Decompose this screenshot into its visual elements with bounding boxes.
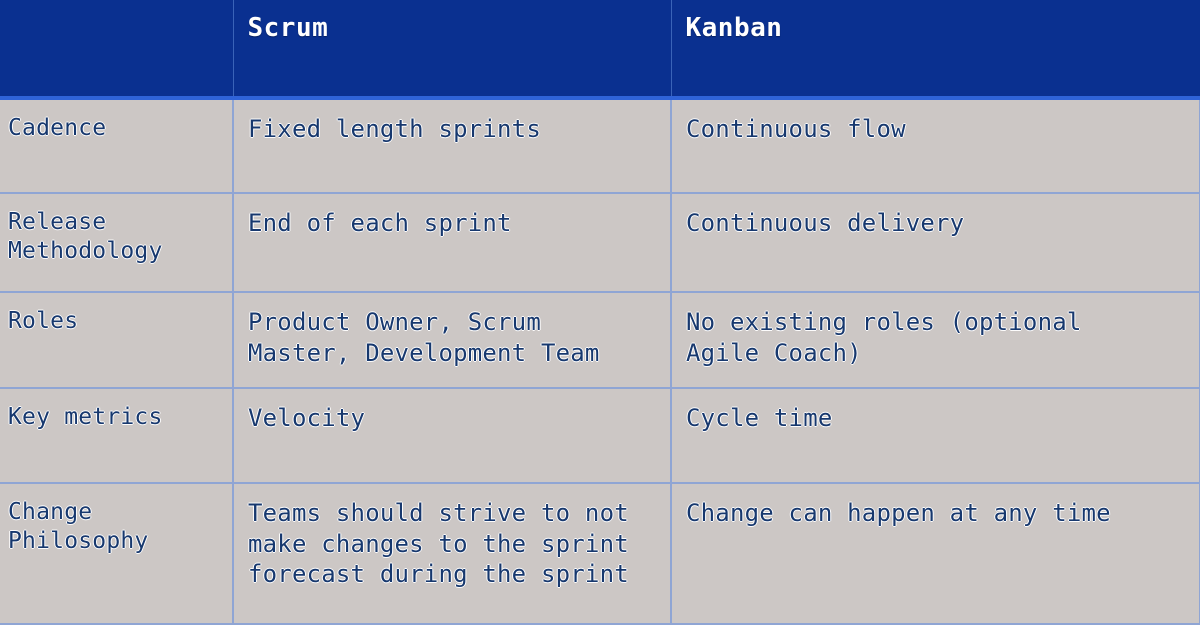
cell-kanban-text: Continuous delivery	[686, 208, 1187, 239]
cell-scrum-text: Fixed length sprints	[248, 114, 658, 145]
cell-feature: Roles	[0, 292, 233, 388]
cell-scrum: Product Owner, Scrum Master, Development…	[233, 292, 671, 388]
cell-kanban-text: Continuous flow	[686, 114, 1187, 145]
cell-kanban-text: No existing roles (optional Agile Coach)	[686, 307, 1187, 368]
column-header-kanban-label: Kanban	[686, 14, 1200, 43]
cell-feature-text: Cadence	[8, 114, 220, 143]
cell-kanban-text: Change can happen at any time	[686, 498, 1187, 529]
cell-scrum-text: Velocity	[248, 403, 658, 434]
cell-feature: Change Philosophy	[0, 483, 233, 624]
cell-feature-text: Key metrics	[8, 403, 220, 432]
column-header-feature	[0, 0, 233, 98]
cell-feature: Cadence	[0, 98, 233, 193]
column-header-scrum-label: Scrum	[248, 14, 671, 43]
table-row: Key metrics Velocity Cycle time	[0, 388, 1200, 483]
table-body: Cadence Fixed length sprints Continuous …	[0, 98, 1200, 624]
cell-scrum: Fixed length sprints	[233, 98, 671, 193]
cell-kanban: Continuous delivery	[671, 193, 1200, 292]
cell-feature: Release Methodology	[0, 193, 233, 292]
cell-scrum-text: Teams should strive to not make changes …	[248, 498, 658, 590]
cell-kanban-text: Cycle time	[686, 403, 1187, 434]
scrum-kanban-comparison-table: Scrum Kanban Cadence Fixed length sprint…	[0, 0, 1200, 625]
table-row: Change Philosophy Teams should strive to…	[0, 483, 1200, 624]
table-row: Cadence Fixed length sprints Continuous …	[0, 98, 1200, 193]
column-header-scrum: Scrum	[233, 0, 671, 98]
cell-feature-text: Roles	[8, 307, 220, 336]
cell-feature: Key metrics	[0, 388, 233, 483]
page-bottom-margin	[0, 625, 1200, 635]
table-header: Scrum Kanban	[0, 0, 1200, 98]
cell-scrum: Velocity	[233, 388, 671, 483]
column-header-kanban: Kanban	[671, 0, 1200, 98]
cell-scrum-text: Product Owner, Scrum Master, Development…	[248, 307, 658, 368]
cell-kanban: Continuous flow	[671, 98, 1200, 193]
cell-scrum-text: End of each sprint	[248, 208, 658, 239]
table-row: Roles Product Owner, Scrum Master, Devel…	[0, 292, 1200, 388]
cell-kanban: No existing roles (optional Agile Coach)	[671, 292, 1200, 388]
header-row: Scrum Kanban	[0, 0, 1200, 98]
cell-scrum: End of each sprint	[233, 193, 671, 292]
cell-feature-text: Release Methodology	[8, 208, 220, 267]
cell-kanban: Cycle time	[671, 388, 1200, 483]
cell-feature-text: Change Philosophy	[8, 498, 220, 557]
cell-scrum: Teams should strive to not make changes …	[233, 483, 671, 624]
cell-kanban: Change can happen at any time	[671, 483, 1200, 624]
table-row: Release Methodology End of each sprint C…	[0, 193, 1200, 292]
